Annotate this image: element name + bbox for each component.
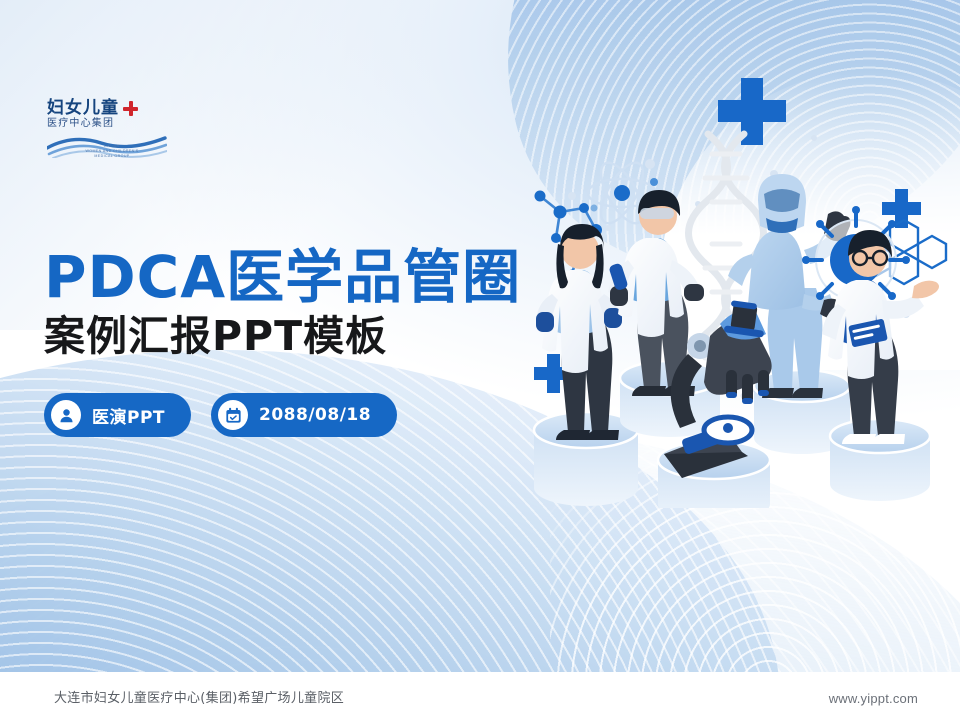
page-title: PDCA医学品管圈 bbox=[44, 248, 521, 306]
medical-team-illustration bbox=[512, 78, 960, 508]
illustration-svg bbox=[512, 78, 960, 508]
hazmat-visor bbox=[764, 189, 800, 212]
footer-website[interactable]: www.yippt.com bbox=[829, 691, 918, 706]
author-pill[interactable]: 医演PPT bbox=[44, 393, 191, 437]
date-pill-label: 2088/08/18 bbox=[259, 405, 371, 425]
red-cross-icon bbox=[123, 101, 138, 116]
footer-organization: 大连市妇女儿童医疗中心(集团)希望广场儿童院区 bbox=[54, 687, 344, 706]
user-icon bbox=[51, 400, 81, 430]
calendar-icon bbox=[218, 400, 248, 430]
plus-icon-large bbox=[718, 78, 786, 145]
presentation-slide: 妇女儿童 医疗中心集团 DALIAN WOMEN AND CHILDREN'S … bbox=[0, 0, 960, 720]
hospital-logo: 妇女儿童 医疗中心集团 DALIAN WOMEN AND CHILDREN'S … bbox=[47, 100, 167, 162]
author-pill-label: 医演PPT bbox=[92, 403, 165, 428]
logo-name-row: 妇女儿童 bbox=[47, 100, 167, 117]
glove-left bbox=[536, 312, 554, 332]
safety-goggles bbox=[640, 208, 674, 219]
glove-right-2 bbox=[684, 284, 704, 301]
figure-female-scientist bbox=[536, 224, 622, 440]
meta-pill-group: 医演PPT 2088/08/18 bbox=[44, 393, 397, 437]
date-pill[interactable]: 2088/08/18 bbox=[211, 393, 397, 437]
logo-name-cn: 妇女儿童 bbox=[47, 100, 119, 117]
open-hand bbox=[912, 281, 939, 299]
logo-subtitle-cn: 医疗中心集团 bbox=[47, 119, 167, 129]
logo-english-line-3: MEDICAL GROUP bbox=[77, 154, 147, 159]
logo-english-block: DALIAN WOMEN AND CHILDREN'S MEDICAL GROU… bbox=[77, 144, 147, 160]
page-subtitle: 案例汇报PPT模板 bbox=[44, 316, 387, 357]
